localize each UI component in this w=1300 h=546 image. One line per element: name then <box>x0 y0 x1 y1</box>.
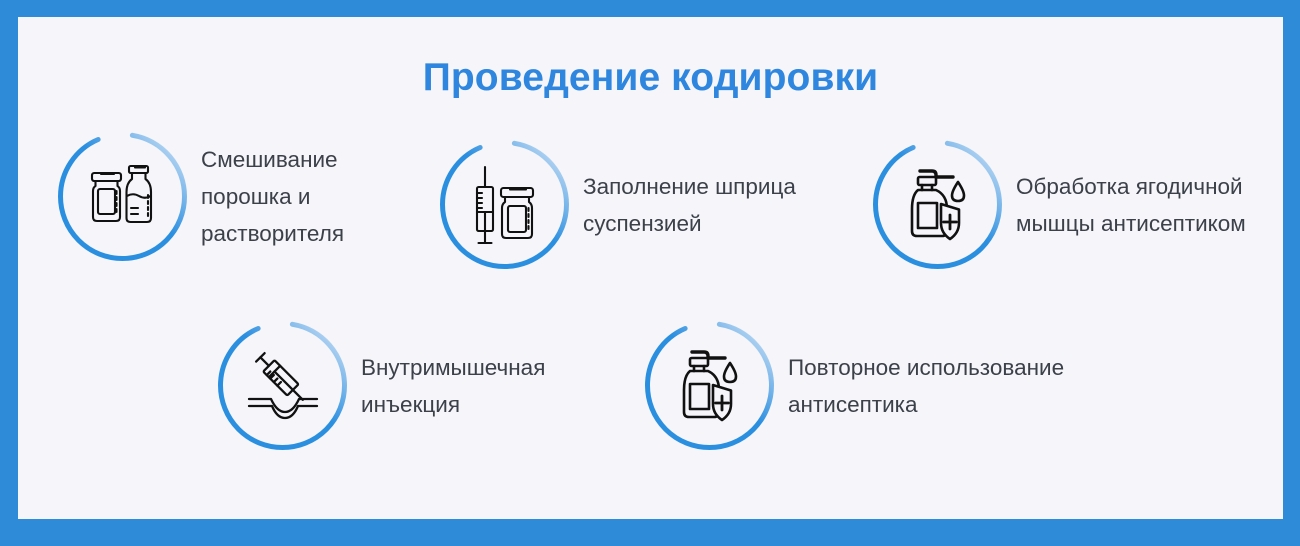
step-circle-4 <box>216 319 349 452</box>
step-label-5: Повторное использование антисептика <box>788 349 1113 423</box>
step-label-3: Обработка ягодичной мышцы антисептиком <box>1016 168 1286 242</box>
step-circle-5 <box>643 319 776 452</box>
step-item-2: Заполнение шприца суспензией <box>438 138 828 271</box>
step-item-1: Смешивание порошка и растворителя <box>56 130 386 263</box>
step-item-4: Внутримышечная инъекция <box>216 319 586 452</box>
step-item-3: Обработка ягодичной мышцы антисептиком <box>871 138 1286 271</box>
page-title: Проведение кодировки <box>18 56 1283 100</box>
step-label-1: Смешивание порошка и растворителя <box>201 141 386 252</box>
antiseptic-dispenser-shield-icon <box>668 344 752 428</box>
step-circle-1 <box>56 130 189 263</box>
step-label-4: Внутримышечная инъекция <box>361 349 586 423</box>
step-circle-3 <box>871 138 1004 271</box>
syringe-and-vial-icon <box>463 163 547 247</box>
intramuscular-injection-icon <box>241 344 325 428</box>
vial-and-bottle-icon <box>81 155 165 239</box>
infographic-panel: Проведение кодировки <box>18 17 1283 519</box>
step-item-5: Повторное использование антисептика <box>643 319 1113 452</box>
step-circle-2 <box>438 138 571 271</box>
antiseptic-dispenser-shield-icon <box>896 163 980 247</box>
infographic-frame: Проведение кодировки <box>0 0 1300 546</box>
step-label-2: Заполнение шприца суспензией <box>583 168 828 242</box>
